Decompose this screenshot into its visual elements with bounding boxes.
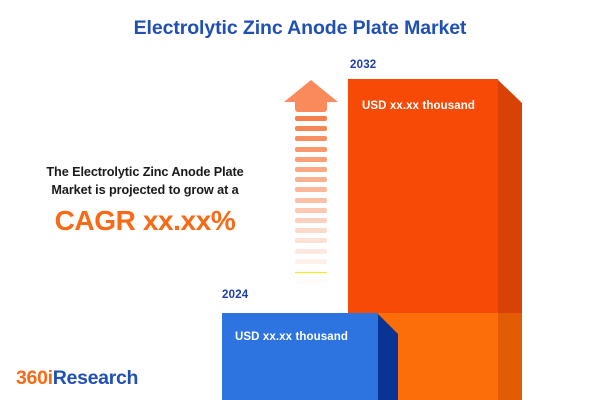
arrow-dash xyxy=(295,228,327,233)
logo-research: Research xyxy=(53,367,138,389)
arrow-dash xyxy=(295,208,327,213)
arrow-dash xyxy=(295,259,327,264)
arrow-dash xyxy=(295,198,327,203)
arrow-dash xyxy=(295,218,327,223)
growth-arrow-icon xyxy=(284,80,338,285)
market-infographic: Electrolytic Zinc Anode Plate Market 203… xyxy=(0,0,600,400)
arrow-highlight-line xyxy=(295,272,327,273)
bar-2024: USD xx.xx thousand xyxy=(222,313,398,400)
bar-2032-overlap-side xyxy=(497,313,522,400)
bar-2024-side-face xyxy=(377,313,398,400)
arrow-dash xyxy=(295,238,327,243)
brand-logo: 360iResearch xyxy=(16,367,138,390)
arrow-head-icon xyxy=(284,80,338,112)
arrow-dash xyxy=(295,147,327,152)
arrow-head-triangle xyxy=(284,80,338,102)
arrow-dash xyxy=(295,116,327,121)
cagr-line-1: The Electrolytic Zinc Anode Plate xyxy=(10,163,280,181)
arrow-dash xyxy=(295,126,327,131)
arrow-dash xyxy=(295,249,327,254)
arrow-dash xyxy=(295,279,327,284)
logo-360: 360 xyxy=(16,367,48,389)
arrow-dash xyxy=(295,167,327,172)
bar-2032-value-label: USD xx.xx thousand xyxy=(362,100,475,112)
year-label-2024: 2024 xyxy=(222,289,248,301)
cagr-line-2: Market is projected to grow at a xyxy=(10,181,280,199)
year-label-2032: 2032 xyxy=(350,59,376,71)
cagr-statement: The Electrolytic Zinc Anode Plate Market… xyxy=(10,163,280,237)
cagr-value: CAGR xx.xx% xyxy=(10,205,280,237)
bar-2024-value-label: USD xx.xx thousand xyxy=(235,331,348,343)
arrow-dash xyxy=(295,187,327,192)
arrow-dash xyxy=(295,157,327,162)
arrow-dash xyxy=(295,177,327,182)
arrow-head-neck xyxy=(295,102,327,112)
page-title: Electrolytic Zinc Anode Plate Market xyxy=(0,17,600,40)
bar-2024-front-face xyxy=(222,313,378,400)
arrow-dash xyxy=(295,136,327,141)
